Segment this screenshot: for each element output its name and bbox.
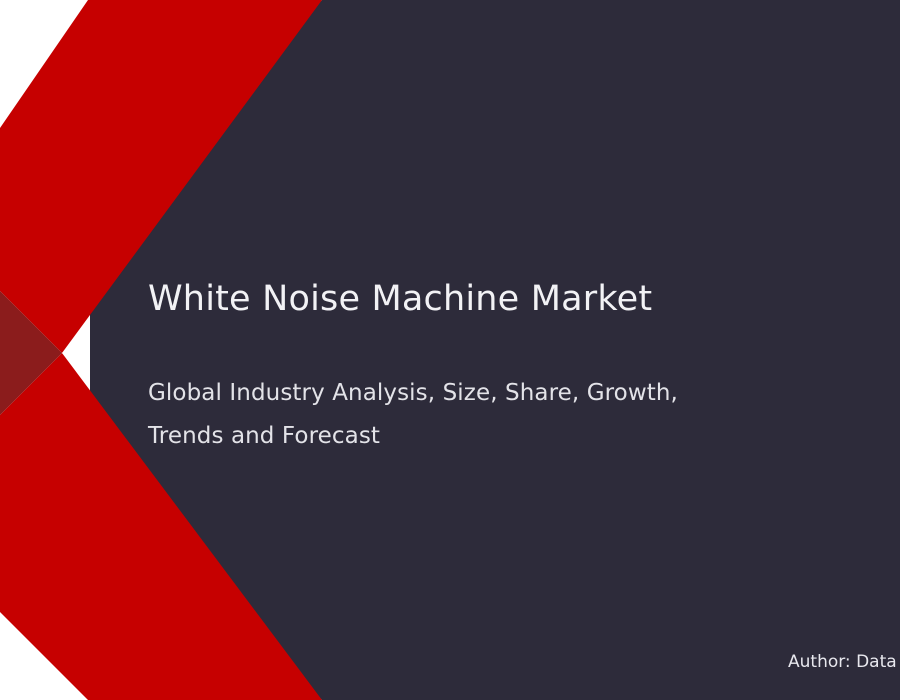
slide-subtitle: Global Industry Analysis, Size, Share, G… bbox=[148, 372, 788, 458]
slide-title: White Noise Machine Market bbox=[148, 278, 848, 320]
title-slide: White Noise Machine Market Global Indust… bbox=[0, 0, 900, 700]
author-label: Author: Data bbox=[788, 652, 897, 672]
slide-content: White Noise Machine Market Global Indust… bbox=[0, 0, 900, 700]
slide-subtitle-line-2: Trends and Forecast bbox=[148, 415, 788, 458]
slide-subtitle-line-1: Global Industry Analysis, Size, Share, G… bbox=[148, 372, 788, 415]
